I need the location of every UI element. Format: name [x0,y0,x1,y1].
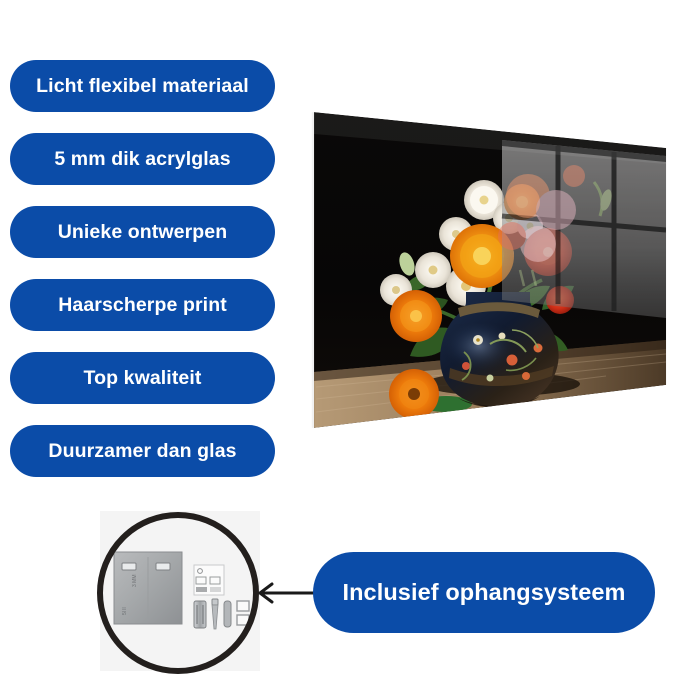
window-reflection [502,140,666,318]
feature-pill-label: 5 mm dik acrylglas [54,148,230,171]
feature-pill-label: Duurzamer dan glas [48,440,236,463]
feature-pill-label: Unieke ontwerpen [58,221,228,244]
feature-pill-unieke-ontwerpen[interactable]: Unieke ontwerpen [10,206,275,258]
product-feature-graphic: Licht flexibel materiaal 5 mm dik acrylg… [0,0,700,700]
hanging-system-label: Inclusief ophangsysteem [342,579,625,606]
feature-pill-top-kwaliteit[interactable]: Top kwaliteit [10,352,275,404]
hanging-system-pill[interactable]: Inclusief ophangsysteem [313,552,655,633]
feature-pill-licht-flexibel-materiaal[interactable]: Licht flexibel materiaal [10,60,275,112]
acrylic-panel [306,104,672,440]
acrylic-panel-artwork [306,104,672,440]
still-life-artwork-image [306,104,672,440]
feature-pill-label: Licht flexibel materiaal [36,75,249,98]
feature-pill-label: Top kwaliteit [84,367,202,390]
feature-pill-haarscherpe-print[interactable]: Haarscherpe print [10,279,275,331]
mounting-kit-circle-outline [97,512,259,674]
feature-pill-duurzamer-dan-glas[interactable]: Duurzamer dan glas [10,425,275,477]
feature-pill-5-mm-dik-acrylglas[interactable]: 5 mm dik acrylglas [10,133,275,185]
feature-pill-label: Haarscherpe print [58,294,227,317]
